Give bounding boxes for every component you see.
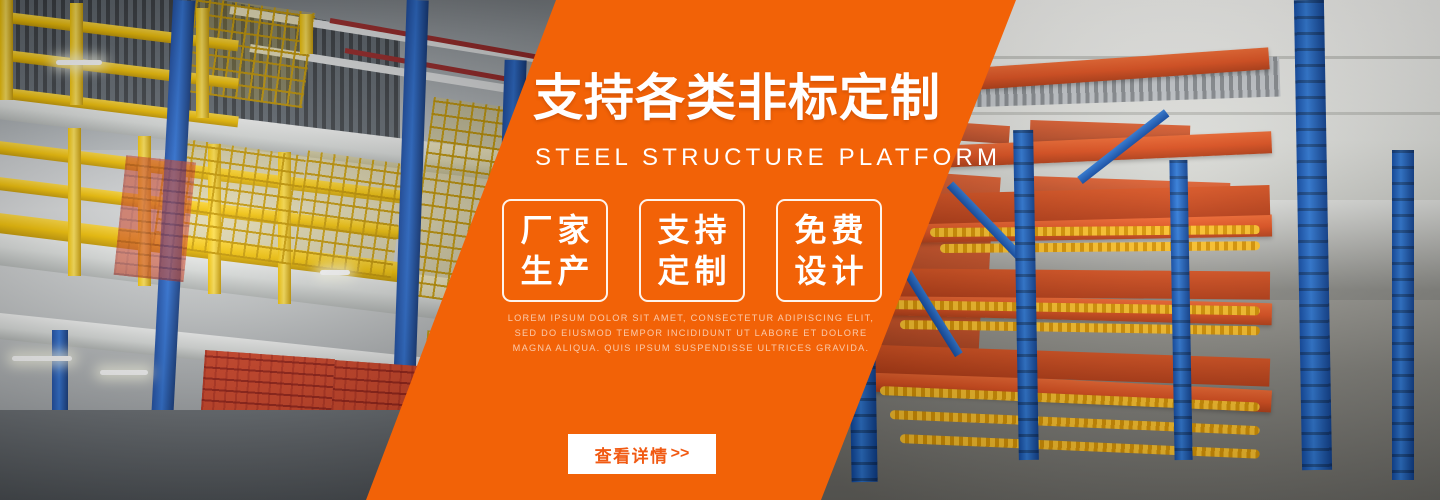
page-title: 支持各类非标定制 xyxy=(533,72,973,125)
description-text: LOREM IPSUM DOLOR SIT AMET, CONSECTETUR … xyxy=(502,311,880,356)
badge-line-2: 设计 xyxy=(789,251,868,292)
chevron-right-icon: >> xyxy=(671,445,690,463)
promo-banner: 支持各类非标定制 STEEL STRUCTURE PLATFORM 厂家 生产 … xyxy=(0,0,1440,500)
badge-line-1: 支持 xyxy=(652,210,731,251)
badge-line-2: 定制 xyxy=(652,251,731,292)
badge-line-1: 免费 xyxy=(789,210,868,251)
feature-badge-manufacturer: 厂家 生产 xyxy=(502,199,608,302)
badge-line-2: 生产 xyxy=(515,251,594,292)
subtitle: STEEL STRUCTURE PLATFORM xyxy=(535,144,975,172)
cta-label: 查看详情 xyxy=(595,442,669,467)
badge-line-1: 厂家 xyxy=(515,210,594,251)
feature-badge-customization: 支持 定制 xyxy=(639,199,745,302)
feature-badge-group: 厂家 生产 支持 定制 免费 设计 xyxy=(502,199,882,302)
view-details-button[interactable]: 查看详情 >> xyxy=(568,434,716,474)
banner-content: 支持各类非标定制 STEEL STRUCTURE PLATFORM 厂家 生产 … xyxy=(0,0,1440,500)
feature-badge-free-design: 免费 设计 xyxy=(776,199,882,302)
